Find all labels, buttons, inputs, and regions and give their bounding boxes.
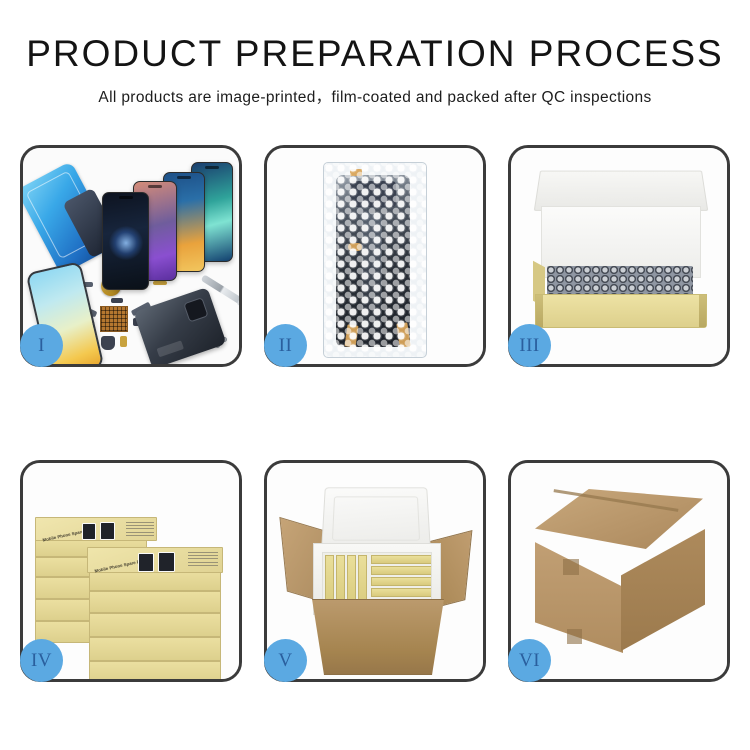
process-step-panel-2: II <box>264 145 486 367</box>
top-box-lower: Mobile Phone Spare Parts <box>87 547 223 573</box>
process-step-panel-1: I <box>20 145 242 367</box>
box-print-screen-icon <box>100 522 115 540</box>
yellow-box-item <box>371 566 432 575</box>
phone-screen-dark-icon <box>102 192 149 290</box>
page-title: PRODUCT PREPARATION PROCESS <box>0 34 750 74</box>
notch-icon <box>205 166 219 169</box>
step-badge-2: II <box>264 324 307 367</box>
box-print-screen-icon <box>138 553 154 572</box>
stacked-box-edge <box>89 591 221 613</box>
carton-side-face-icon <box>621 529 705 651</box>
page-header: PRODUCT PREPARATION PROCESS All products… <box>0 0 750 107</box>
stacked-box-edge <box>89 613 221 637</box>
part-bracket-icon <box>111 298 123 303</box>
yellow-box-item <box>371 577 432 586</box>
part-taptic-icon <box>101 336 115 350</box>
top-box-upper: Mobile Phone Spare Parts <box>35 517 157 541</box>
stacked-box-edge <box>89 637 221 661</box>
notch-icon <box>119 196 133 199</box>
part-flex-gold-icon <box>153 281 167 285</box>
step-badge-5: V <box>264 639 307 682</box>
bubble-texture-icon <box>324 163 426 357</box>
step-badge-1: I <box>20 324 63 367</box>
process-step-panel-6: VI <box>508 460 730 682</box>
process-step-panel-5: V <box>264 460 486 682</box>
page-subtitle: All products are image-printed，film-coat… <box>0 85 750 107</box>
yellow-box-item <box>371 555 432 564</box>
carton-tab-icon <box>567 629 582 644</box>
notch-icon <box>177 176 191 179</box>
stacked-box-edge <box>89 661 221 679</box>
chip-array-component-icon <box>100 306 128 332</box>
process-step-panel-4: Mobile Phone Spare Parts Mobile Phone Sp… <box>20 460 242 682</box>
process-step-panel-3: III <box>508 145 730 367</box>
part-contact-icon <box>120 336 127 347</box>
step-badge-6: VI <box>508 639 551 682</box>
box-lid-icon <box>534 171 709 211</box>
kraft-box-front-icon <box>535 294 707 328</box>
box-print-specs <box>188 552 218 568</box>
yellow-box-item <box>371 588 432 597</box>
process-step-grid: I II III <box>20 145 730 683</box>
box-print-screen-icon <box>82 523 96 540</box>
carton-top-face-icon <box>535 489 703 549</box>
step-badge-4: IV <box>20 639 63 682</box>
box-print-screen-icon <box>158 552 175 572</box>
box-stack-icon: Mobile Phone Spare Parts Mobile Phone Sp… <box>31 491 239 677</box>
styrofoam-lid-icon <box>321 487 431 551</box>
step-badge-3: III <box>508 324 551 367</box>
notch-icon <box>148 185 162 188</box>
bubble-wrap-bag-icon <box>323 162 427 358</box>
carton-body-icon <box>303 599 453 675</box>
box-print-specs <box>126 522 154 538</box>
carton-tab-icon <box>563 559 579 575</box>
phone-rear-housing-icon <box>133 287 226 364</box>
